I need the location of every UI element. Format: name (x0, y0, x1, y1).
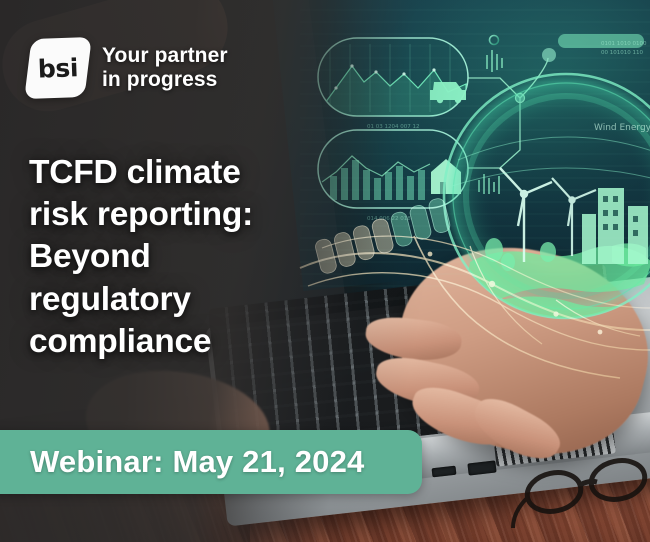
headline-line-5: compliance (29, 321, 329, 363)
headline-line-3: Beyond (29, 236, 329, 278)
brand-lockup: bsi Your partner in progress (28, 38, 228, 98)
brand-tagline: Your partner in progress (102, 44, 228, 93)
event-date-label: Webinar: May 21, 2024 (0, 444, 364, 480)
event-date-badge: Webinar: May 21, 2024 (0, 430, 422, 494)
headline-line-1: TCFD climate (29, 152, 329, 194)
page-title: TCFD climate risk reporting: Beyond regu… (29, 152, 329, 363)
brand-tagline-line2: in progress (102, 68, 228, 92)
bsi-logo-text: bsi (38, 55, 79, 81)
brand-tagline-line1: Your partner (102, 44, 228, 68)
headline-line-4: regulatory (29, 279, 329, 321)
bsi-logo: bsi (24, 37, 92, 99)
webinar-promo-banner: 0101 1010 0100 00 101010 110 (0, 0, 650, 542)
headline-line-2: risk reporting: (29, 194, 329, 236)
